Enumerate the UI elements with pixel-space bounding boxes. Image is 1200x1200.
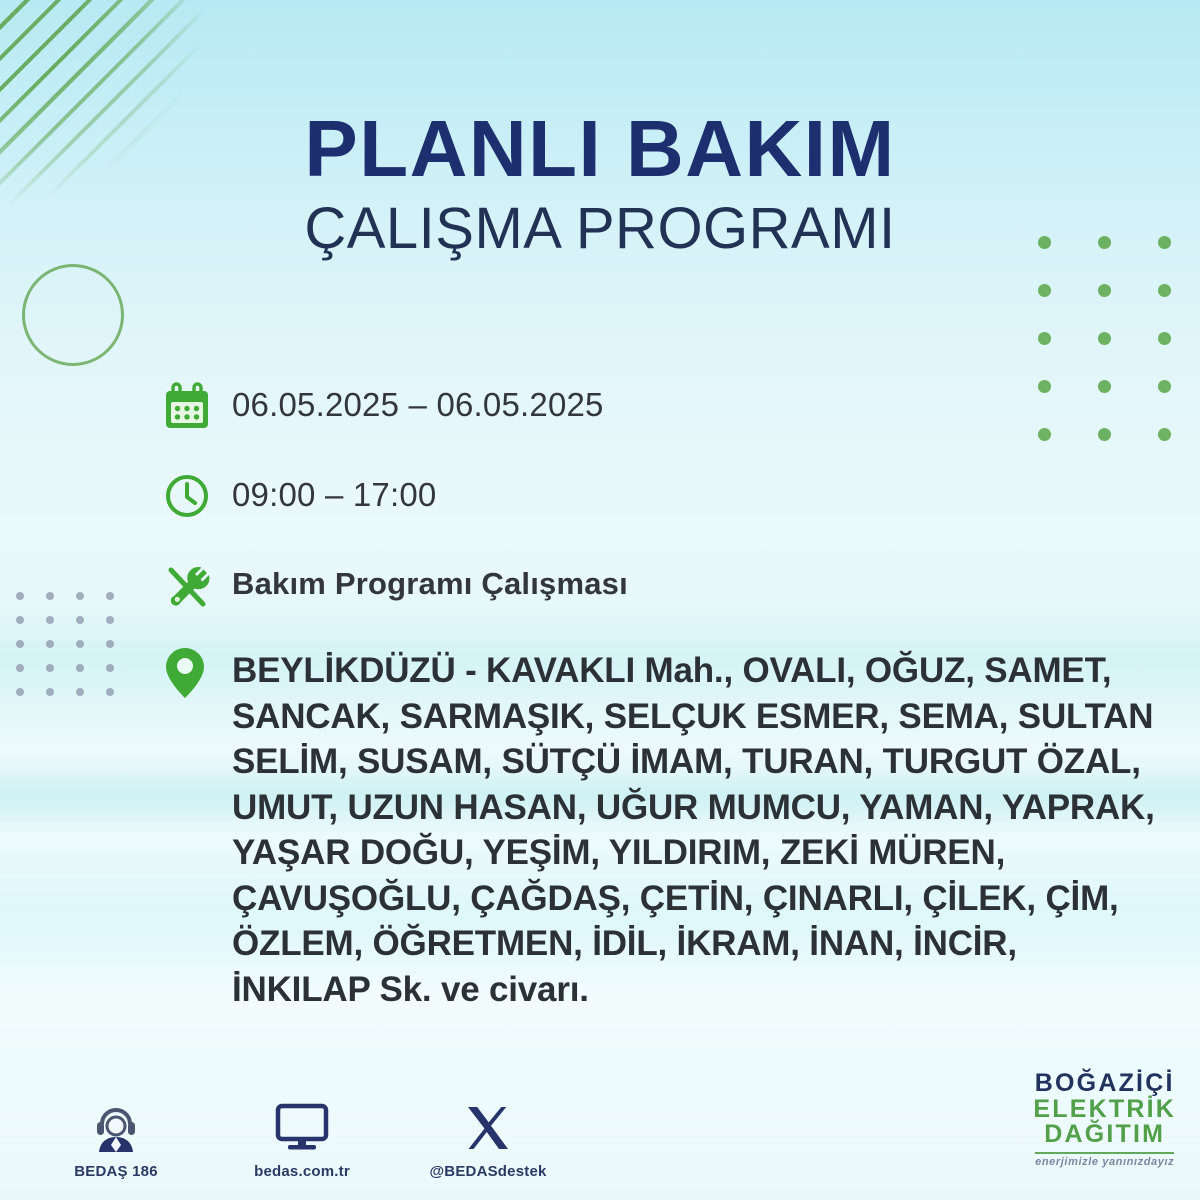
dot — [76, 592, 84, 600]
brand-line-3: DAĞITIM — [1033, 1122, 1176, 1148]
dot — [46, 592, 54, 600]
dot — [46, 640, 54, 648]
dot — [76, 616, 84, 624]
circle-outline-decoration — [22, 264, 124, 366]
x-twitter-icon — [464, 1096, 512, 1154]
info-block: 06.05.2025 – 06.05.2025 09:00 – 17:00 — [164, 378, 1164, 1012]
monitor-icon — [274, 1096, 330, 1154]
dot — [46, 616, 54, 624]
contact-label: @BEDASdestek — [429, 1163, 546, 1180]
dot — [16, 616, 24, 624]
dot — [1158, 284, 1171, 297]
brand-divider — [1035, 1152, 1174, 1154]
work-type-row: Bakım Programı Çalışması — [164, 558, 1164, 614]
date-range-text: 06.05.2025 – 06.05.2025 — [232, 378, 604, 424]
calendar-icon — [164, 378, 232, 434]
page-subtitle: ÇALIŞMA PROGRAMI — [0, 194, 1200, 264]
work-type-text: Bakım Programı Çalışması — [232, 558, 628, 602]
time-range-text: 09:00 – 17:00 — [232, 468, 436, 514]
dot — [106, 688, 114, 696]
dot — [1098, 332, 1111, 345]
poster-canvas: PLANLI BAKIM ÇALIŞMA PROGRAMI 06.05.2025… — [0, 0, 1200, 1200]
brand-tagline: enerjimizle yanınızdayız — [1033, 1157, 1176, 1168]
dot — [1098, 284, 1111, 297]
poster-footer: BEDAŞ 186 bedas.com.tr — [0, 1076, 1200, 1186]
date-row: 06.05.2025 – 06.05.2025 — [164, 378, 1164, 434]
dot — [16, 688, 24, 696]
dot — [16, 664, 24, 672]
page-title: PLANLI BAKIM — [0, 110, 1200, 188]
time-row: 09:00 – 17:00 — [164, 468, 1164, 524]
dot — [106, 616, 114, 624]
dot — [46, 688, 54, 696]
location-row: BEYLİKDÜZÜ - KAVAKLI Mah., OVALI, OĞUZ, … — [164, 648, 1164, 1012]
brand-line-2: ELEKTRİK — [1033, 1097, 1176, 1123]
tools-icon — [164, 558, 232, 614]
headset-support-icon — [89, 1096, 143, 1154]
contact-item-website[interactable]: bedas.com.tr — [238, 1096, 366, 1180]
poster-header: PLANLI BAKIM ÇALIŞMA PROGRAMI — [0, 110, 1200, 264]
contact-label: BEDAŞ 186 — [74, 1163, 158, 1180]
dot — [16, 592, 24, 600]
dot — [1158, 332, 1171, 345]
dot-grid-decoration-left — [16, 592, 136, 712]
dot — [106, 592, 114, 600]
dot — [16, 640, 24, 648]
dot — [46, 664, 54, 672]
brand-logo: BOĞAZİÇİ ELEKTRİK DAĞITIM enerjimizle ya… — [1033, 1071, 1176, 1168]
dot — [1038, 332, 1051, 345]
dot — [106, 664, 114, 672]
dot — [76, 640, 84, 648]
dot — [76, 664, 84, 672]
dot — [1038, 284, 1051, 297]
contact-item-phone[interactable]: BEDAŞ 186 — [52, 1096, 180, 1180]
contact-label: bedas.com.tr — [254, 1163, 350, 1180]
clock-icon — [164, 468, 232, 524]
brand-line-1: BOĞAZİÇİ — [1033, 1071, 1176, 1097]
address-text: BEYLİKDÜZÜ - KAVAKLI Mah., OVALI, OĞUZ, … — [232, 648, 1162, 1012]
contact-list: BEDAŞ 186 bedas.com.tr — [52, 1096, 552, 1180]
contact-item-social[interactable]: @BEDASdestek — [424, 1096, 552, 1180]
dot — [106, 640, 114, 648]
dot — [76, 688, 84, 696]
map-pin-icon — [164, 648, 232, 698]
